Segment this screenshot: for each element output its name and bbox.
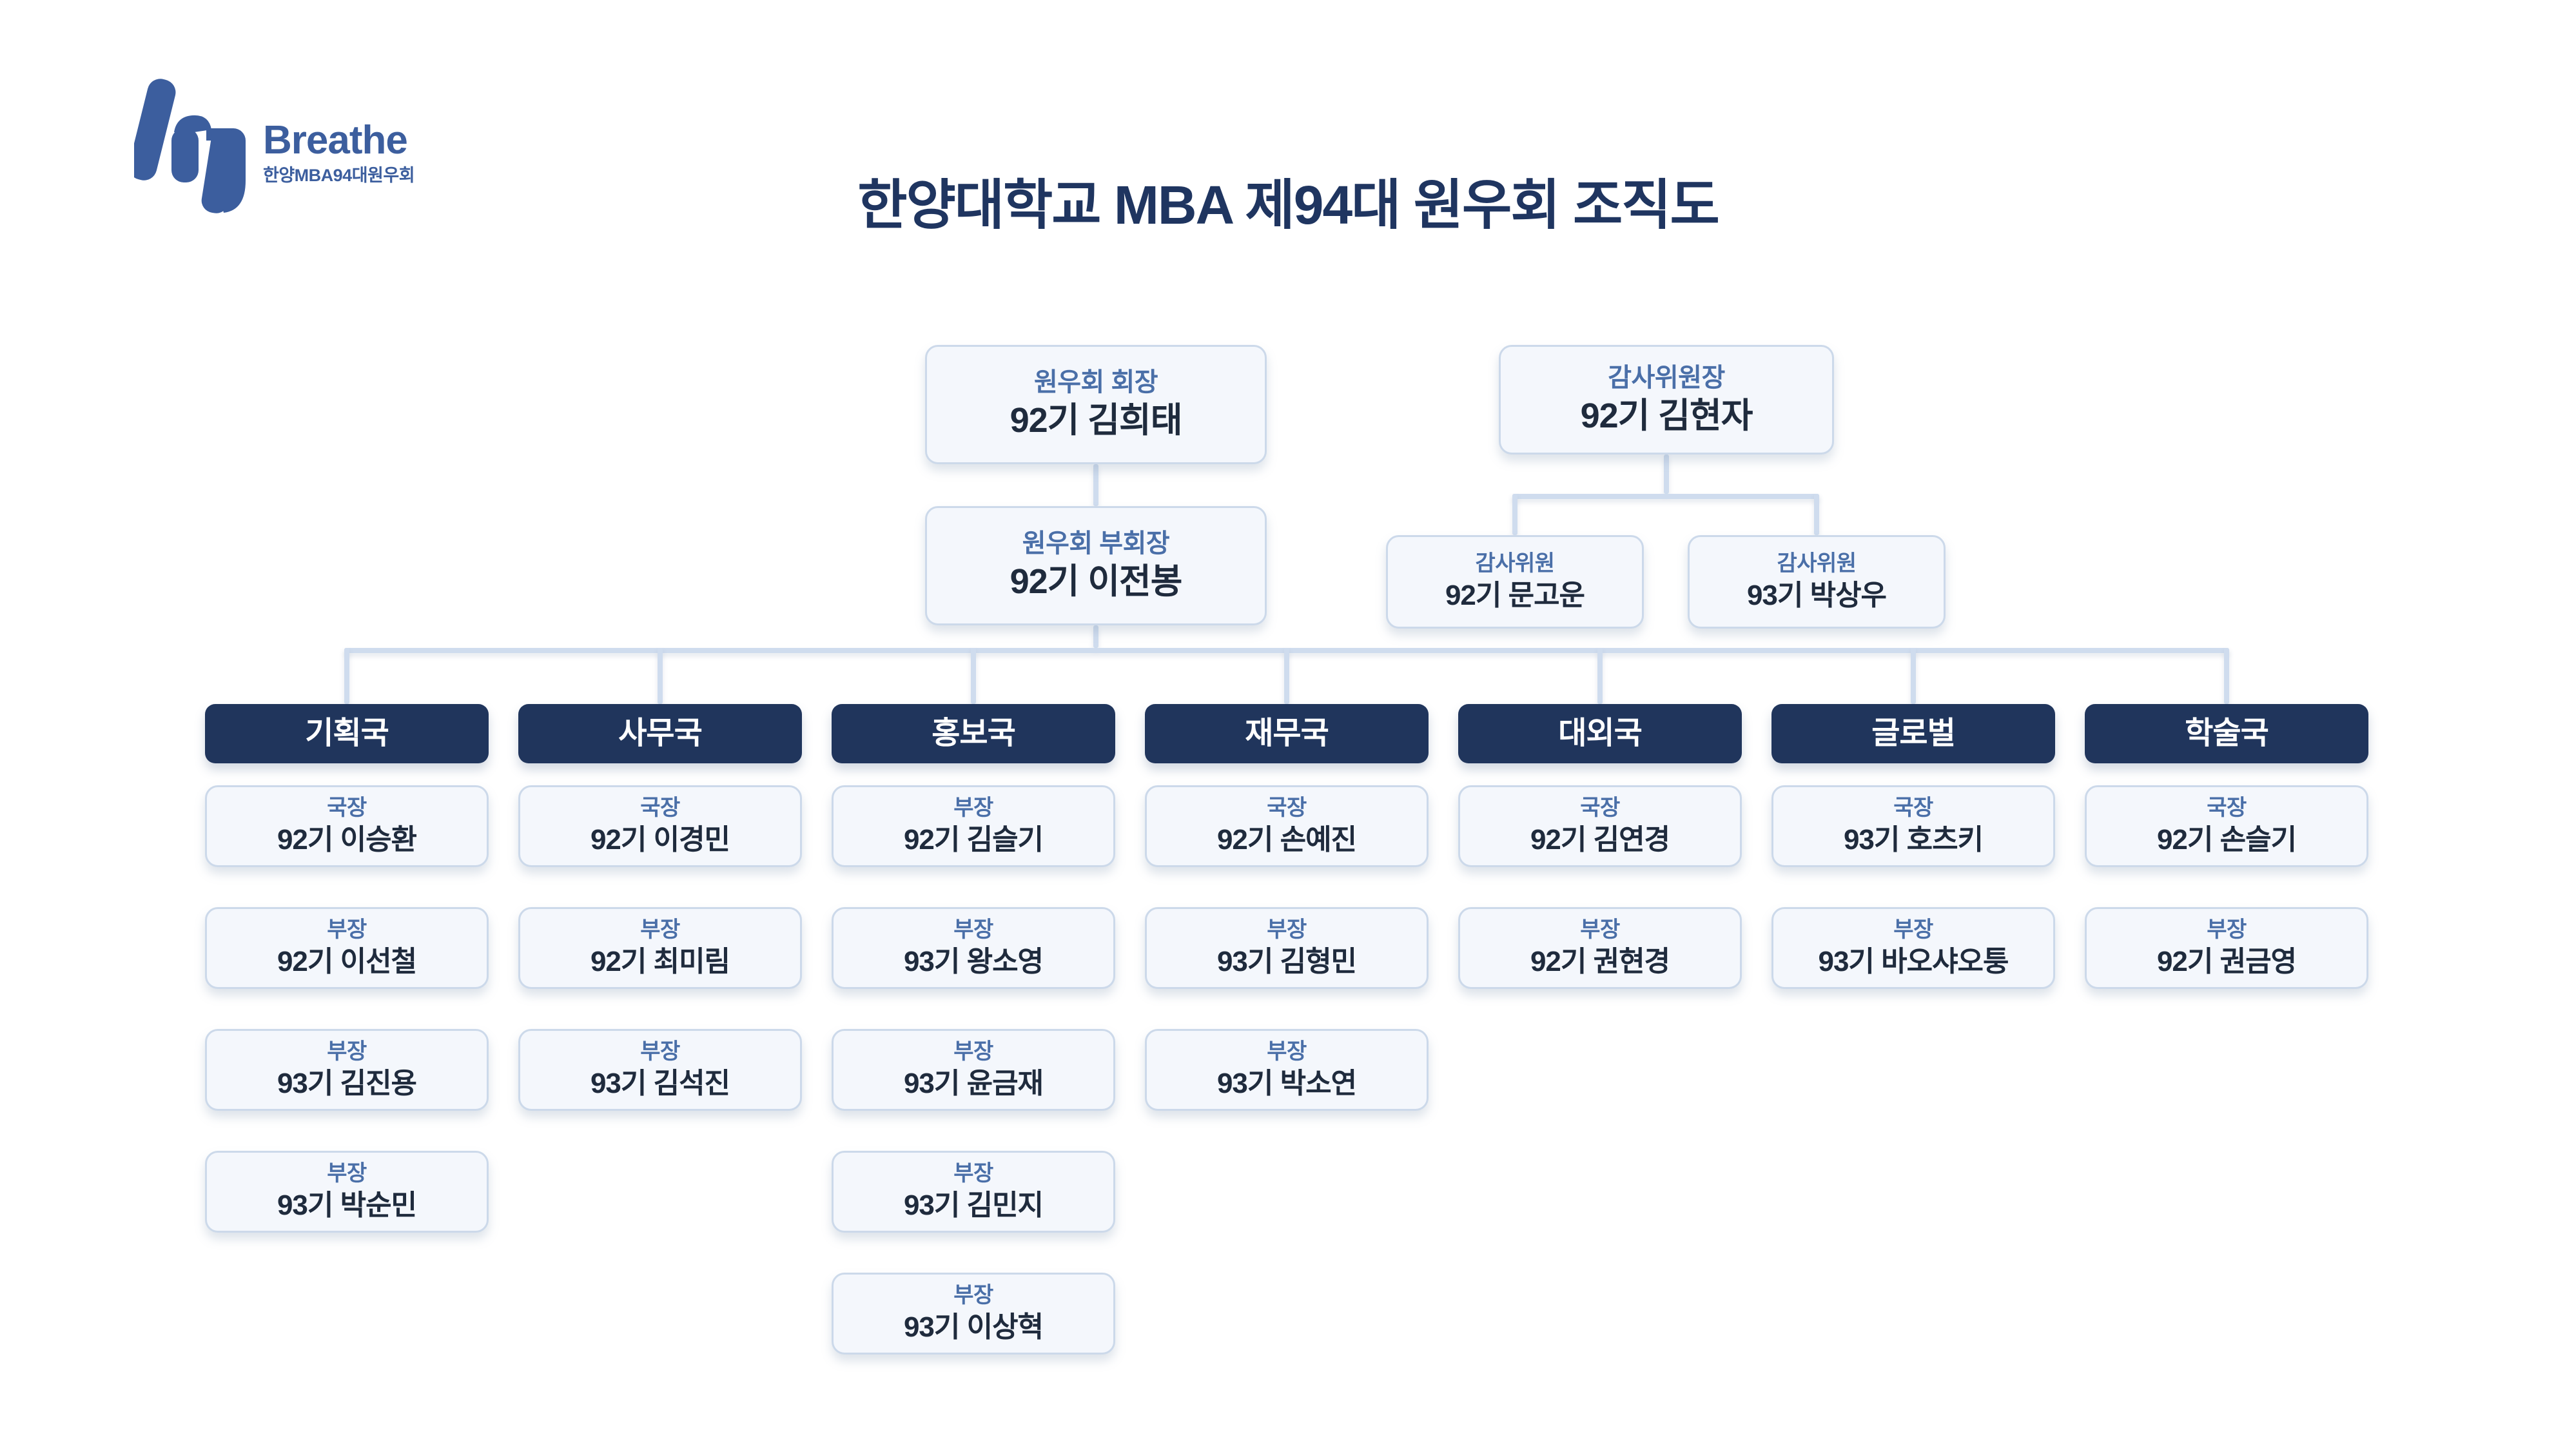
node-person: 93기 박순민 — [277, 1189, 416, 1223]
node-person: 92기 김슬기 — [904, 823, 1043, 857]
node-member-홍보국-2[interactable]: 부장93기 왕소영 — [832, 907, 1115, 989]
node-role: 원우회 부회장 — [1022, 529, 1169, 558]
node-member-학술국-2[interactable]: 부장92기 권금영 — [2085, 907, 2368, 989]
node-audit-chair[interactable]: 감사위원장92기 김현자 — [1499, 345, 1834, 455]
node-role: 국장 — [1580, 796, 1620, 821]
node-person: 93기 이상혁 — [904, 1311, 1043, 1345]
node-person: 93기 김석진 — [590, 1067, 730, 1101]
connector-audit-bus — [1512, 494, 1819, 499]
connector-department-drop-5 — [1597, 648, 1603, 704]
node-member-홍보국-1[interactable]: 부장92기 김슬기 — [832, 785, 1115, 867]
connector-department-bus — [344, 648, 2229, 653]
node-president[interactable]: 원우회 회장92기 김희태 — [925, 345, 1267, 464]
connector-department-drop-2 — [658, 648, 663, 704]
dept-name-label: 학술국 — [2185, 718, 2268, 749]
node-person: 92기 이선철 — [277, 945, 416, 979]
node-role: 부장 — [327, 1039, 367, 1064]
node-member-재무국-1[interactable]: 국장92기 손예진 — [1145, 785, 1429, 867]
node-vice-president[interactable]: 원우회 부회장92기 이전봉 — [925, 506, 1267, 625]
node-person: 93기 왕소영 — [904, 945, 1043, 979]
node-person: 92기 권금영 — [2157, 945, 2296, 979]
node-member-기획국-2[interactable]: 부장92기 이선철 — [205, 907, 489, 989]
dept-name-label: 재무국 — [1245, 718, 1328, 749]
node-member-사무국-3[interactable]: 부장93기 김석진 — [518, 1029, 802, 1111]
node-person: 92기 최미림 — [590, 945, 730, 979]
node-audit-member-2[interactable]: 감사위원93기 박상우 — [1688, 535, 1946, 629]
node-role: 국장 — [327, 796, 367, 821]
node-person: 92기 권현경 — [1530, 945, 1670, 979]
node-person: 92기 김연경 — [1530, 823, 1670, 857]
node-role: 감사위원 — [1777, 551, 1856, 576]
connector-audit-drop-2 — [1814, 494, 1819, 535]
connector-audit-drop-1 — [1512, 494, 1517, 535]
node-member-재무국-2[interactable]: 부장93기 김형민 — [1145, 907, 1429, 989]
logo-text-block: Breathe 한양MBA94대원우회 — [263, 104, 415, 184]
node-role: 부장 — [953, 1161, 993, 1186]
node-member-기획국-1[interactable]: 국장92기 이승환 — [205, 785, 489, 867]
node-person: 93기 윤금재 — [904, 1067, 1043, 1101]
node-member-재무국-3[interactable]: 부장93기 박소연 — [1145, 1029, 1429, 1111]
node-role: 부장 — [1580, 917, 1620, 943]
node-member-대외국-1[interactable]: 국장92기 김연경 — [1458, 785, 1742, 867]
node-member-기획국-4[interactable]: 부장93기 박순민 — [205, 1151, 489, 1233]
node-person: 93기 호츠키 — [1844, 823, 1983, 857]
node-role: 부장 — [953, 917, 993, 943]
page-title: 한양대학교 MBA 제94대 원우회 조직도 — [0, 175, 2576, 235]
node-member-홍보국-3[interactable]: 부장93기 윤금재 — [832, 1029, 1115, 1111]
dept-header-홍보국[interactable]: 홍보국 — [832, 704, 1115, 763]
node-role: 국장 — [1893, 796, 1933, 821]
node-person: 93기 바오샤오퉁 — [1818, 945, 2008, 979]
node-role: 부장 — [1893, 917, 1933, 943]
node-member-학술국-1[interactable]: 국장92기 손슬기 — [2085, 785, 2368, 867]
node-person: 93기 김민지 — [904, 1189, 1043, 1223]
dept-name-label: 사무국 — [618, 718, 701, 749]
node-member-홍보국-4[interactable]: 부장93기 김민지 — [832, 1151, 1115, 1233]
node-person: 93기 박소연 — [1217, 1067, 1356, 1101]
dept-header-학술국[interactable]: 학술국 — [2085, 704, 2368, 763]
node-role: 부장 — [327, 1161, 367, 1186]
node-role: 부장 — [327, 917, 367, 943]
node-member-글로벌-2[interactable]: 부장93기 바오샤오퉁 — [1771, 907, 2055, 989]
node-role: 국장 — [1267, 796, 1307, 821]
node-role: 국장 — [2207, 796, 2247, 821]
node-person: 93기 김진용 — [277, 1067, 416, 1101]
node-person: 92기 손예진 — [1217, 823, 1356, 857]
node-role: 부장 — [1267, 1039, 1307, 1064]
node-person: 92기 김희태 — [1010, 400, 1182, 442]
node-role: 부장 — [1267, 917, 1307, 943]
node-role: 부장 — [640, 1039, 680, 1064]
node-role: 감사위원장 — [1608, 363, 1725, 393]
node-person: 92기 이승환 — [277, 823, 416, 857]
node-role: 감사위원 — [1475, 551, 1554, 576]
node-person: 93기 김형민 — [1217, 945, 1356, 979]
connector-department-drop-6 — [1911, 648, 1916, 704]
node-member-홍보국-5[interactable]: 부장93기 이상혁 — [832, 1273, 1115, 1355]
node-audit-member-1[interactable]: 감사위원92기 문고운 — [1386, 535, 1644, 629]
node-role: 부장 — [953, 1283, 993, 1308]
node-person: 92기 김현자 — [1581, 395, 1753, 437]
node-person: 92기 손슬기 — [2157, 823, 2296, 857]
connector-vice-stem — [1093, 625, 1098, 648]
node-person: 92기 이전봉 — [1010, 561, 1182, 603]
node-role: 부장 — [640, 917, 680, 943]
dept-header-재무국[interactable]: 재무국 — [1145, 704, 1429, 763]
dept-header-대외국[interactable]: 대외국 — [1458, 704, 1742, 763]
connector-department-drop-4 — [1284, 648, 1289, 704]
node-member-기획국-3[interactable]: 부장93기 김진용 — [205, 1029, 489, 1111]
connector-audit-stem — [1664, 455, 1669, 494]
node-member-글로벌-1[interactable]: 국장93기 호츠키 — [1771, 785, 2055, 867]
node-member-사무국-2[interactable]: 부장92기 최미림 — [518, 907, 802, 989]
node-role: 부장 — [953, 796, 993, 821]
node-person: 92기 이경민 — [590, 823, 730, 857]
node-role: 원우회 회장 — [1034, 367, 1158, 397]
node-person: 93기 박상우 — [1747, 579, 1886, 613]
dept-name-label: 글로벌 — [1871, 718, 1955, 749]
org-chart-canvas: Breathe 한양MBA94대원우회 한양대학교 MBA 제94대 원우회 조… — [0, 0, 2576, 1448]
dept-name-label: 대외국 — [1558, 718, 1641, 749]
connector-president-to-vice — [1093, 464, 1098, 506]
dept-name-label: 홍보국 — [932, 718, 1015, 749]
dept-name-label: 기획국 — [305, 718, 388, 749]
node-person: 92기 문고운 — [1445, 579, 1585, 613]
dept-header-기획국[interactable]: 기획국 — [205, 704, 489, 763]
node-member-사무국-1[interactable]: 국장92기 이경민 — [518, 785, 802, 867]
dept-header-사무국[interactable]: 사무국 — [518, 704, 802, 763]
node-role: 국장 — [640, 796, 680, 821]
dept-header-글로벌[interactable]: 글로벌 — [1771, 704, 2055, 763]
logo-wordmark: Breathe — [263, 121, 415, 161]
connector-department-drop-7 — [2224, 648, 2229, 704]
node-role: 부장 — [2207, 917, 2247, 943]
node-role: 부장 — [953, 1039, 993, 1064]
node-member-대외국-2[interactable]: 부장92기 권현경 — [1458, 907, 1742, 989]
connector-department-drop-3 — [971, 648, 976, 704]
connector-department-drop-1 — [344, 648, 349, 704]
